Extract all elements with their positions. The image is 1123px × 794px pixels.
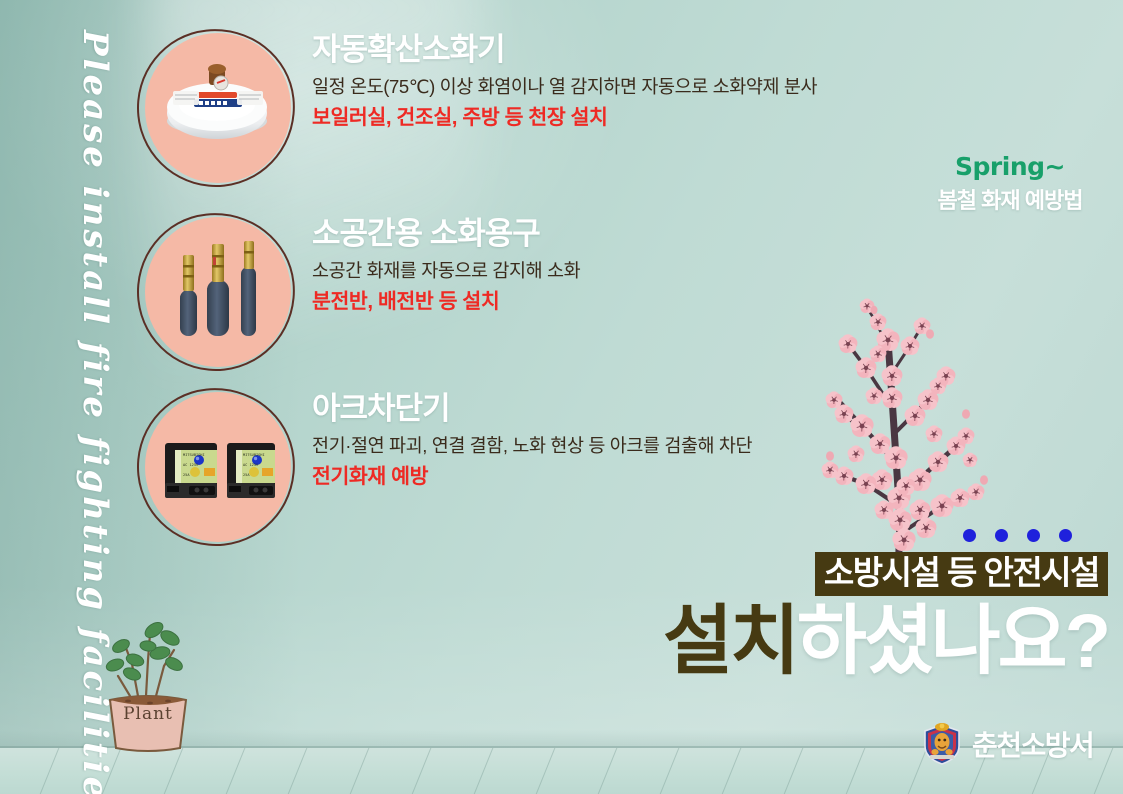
- blossom-bud: [980, 475, 988, 485]
- plant-label: Plant: [88, 704, 208, 724]
- floor-plank: [30, 748, 65, 794]
- blossom-flower: [846, 445, 865, 464]
- floor-plank: [0, 748, 3, 794]
- decorative-dot: [963, 529, 976, 542]
- decorative-dot: [995, 529, 1008, 542]
- floor-plank: [836, 748, 871, 794]
- headline-block: 소방시설 등 안전시설 설치하셨나요?: [600, 552, 1108, 683]
- headline-banner: 소방시설 등 안전시설: [815, 552, 1108, 596]
- item-row: 소공간용 소화용구 소공간 화재를 자동으로 감지해 소화 분전반, 배전반 등…: [0, 210, 900, 380]
- item-thumbnail: [137, 213, 297, 373]
- blossom-flower: [891, 528, 918, 553]
- floor-plank: [526, 748, 561, 794]
- item-placement: 보일러실, 건조실, 주방 등 천장 설치: [312, 103, 912, 132]
- blossom-flower: [880, 387, 904, 410]
- agency-name: 춘천소방서: [972, 724, 1093, 764]
- blossom-flower: [966, 483, 985, 502]
- item-thumbnail: MITSUBISHI AC 125V 25A: [137, 388, 297, 548]
- blossom-bud: [962, 409, 970, 419]
- blossom-bud: [826, 451, 834, 461]
- item-title: 자동확산소화기: [312, 32, 912, 69]
- item-row: 자동확산소화기 일정 온도(75℃) 이상 화염이나 열 감지하면 자동으로 소…: [0, 26, 900, 196]
- item-text-block: 자동확산소화기 일정 온도(75℃) 이상 화염이나 열 감지하면 자동으로 소…: [312, 26, 912, 132]
- floor-plank: [402, 748, 437, 794]
- floor-plank: [464, 748, 499, 794]
- decorative-dot: [1027, 529, 1040, 542]
- floor-plank: [650, 748, 685, 794]
- agency-logo: 춘천소방서: [922, 722, 1093, 766]
- blossom-bud: [871, 306, 878, 314]
- fire-station-shield-emblem: [922, 722, 962, 766]
- floor-plank: [340, 748, 375, 794]
- headline-banner-wrap: 소방시설 등 안전시설: [600, 552, 1108, 596]
- blossom-flower: [899, 336, 921, 357]
- spring-label-korean: 봄철 화재 예방법: [905, 183, 1115, 215]
- blossom-flower: [880, 365, 904, 388]
- blossom-flower: [924, 425, 943, 444]
- headline-main-light: 하셨나요?: [797, 599, 1108, 684]
- decorative-dot: [1059, 529, 1072, 542]
- spring-label-english: Spring~: [905, 152, 1115, 181]
- headline-main: 설치하셨나요?: [600, 601, 1108, 683]
- item-row: MITSUBISHI AC 125V 25A: [0, 385, 900, 555]
- decorative-dots: [963, 529, 1073, 543]
- floor-plank: [278, 748, 313, 794]
- item-thumbnail: [137, 29, 297, 189]
- floor-plank: [712, 748, 747, 794]
- poster-canvas: Please install fire fighting facilities: [0, 0, 1123, 794]
- item-description: 일정 온도(75℃) 이상 화염이나 열 감지하면 자동으로 소화약제 분사: [312, 74, 912, 100]
- spring-label: Spring~ 봄철 화재 예방법: [905, 152, 1115, 215]
- headline-main-dark: 설치: [663, 599, 797, 684]
- floor-plank: [774, 748, 809, 794]
- potted-plant-icon: [88, 608, 208, 754]
- floor-plank: [154, 748, 189, 794]
- blossom-bud: [926, 329, 934, 339]
- floor-plank: [216, 748, 251, 794]
- plant-illustration: Plant: [88, 608, 208, 754]
- floor-plank: [588, 748, 623, 794]
- blossom-flower: [962, 453, 979, 469]
